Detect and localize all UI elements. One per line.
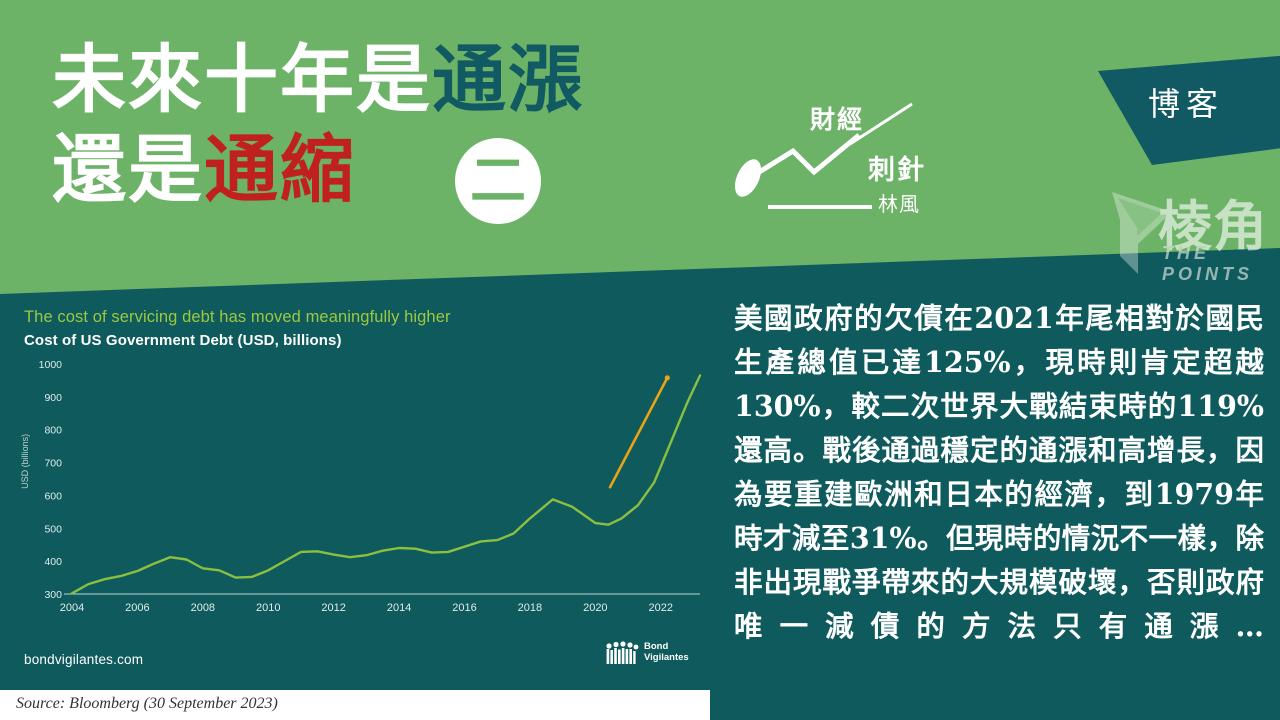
blog-badge: 博客 <box>1090 55 1280 165</box>
blog-badge-label: 博客 <box>1148 79 1224 125</box>
chart-svg: 3004005006007008009001000USD (billions)2… <box>0 356 712 652</box>
chart-subtitle: Cost of US Government Debt (USD, billion… <box>24 332 342 349</box>
x-tick-label: 2016 <box>452 602 476 614</box>
article-paragraph: 美國政府的欠債在2021年尾相對於國民生產總值已達125%，現時則肯定超越130… <box>734 296 1264 648</box>
headline-line1-white: 未來十年是 <box>52 37 432 123</box>
column-logo: 財經 刺針 林風 <box>726 96 966 226</box>
brand-watermark: 棱角 THE POINTS <box>1110 186 1280 278</box>
bond-vigilantes-mark-icon <box>604 640 640 666</box>
column-category-label: 財經 <box>810 100 864 136</box>
x-tick-label: 2010 <box>256 602 280 614</box>
x-tick-label: 2006 <box>125 602 149 614</box>
y-tick-label: 300 <box>44 589 62 601</box>
episode-number-badge: 二 <box>455 138 541 224</box>
column-author-label: 林風 <box>878 188 920 217</box>
chart-title: The cost of servicing debt has moved mea… <box>24 308 451 327</box>
x-tick-label: 2020 <box>583 602 607 614</box>
chart-footer-url: bondvigilantes.com <box>24 652 143 667</box>
y-tick-label: 600 <box>44 490 62 502</box>
x-tick-label: 2004 <box>60 602 84 614</box>
infographic-canvas: 未來十年是通漲 還是通縮 二 財經 刺針 林風 博客 棱角 THE POINTS… <box>0 0 1280 720</box>
watermark-en-label: THE POINTS <box>1162 243 1280 285</box>
x-tick-label: 2014 <box>387 602 411 614</box>
headline-line2-white: 還是 <box>52 127 204 213</box>
y-tick-label: 500 <box>44 523 62 535</box>
article-body-panel: 美國政府的欠債在2021年尾相對於國民生產總值已達125%，現時則肯定超越130… <box>712 290 1280 720</box>
y-tick-label: 700 <box>44 458 62 470</box>
x-tick-label: 2008 <box>191 602 215 614</box>
headline-line1-accent: 通漲 <box>432 37 584 123</box>
x-tick-label: 2022 <box>649 602 673 614</box>
bond-vigilantes-name: Bond Vigilantes <box>644 641 704 663</box>
bond-vigilantes-logo: Bond Vigilantes <box>604 640 704 674</box>
column-name-label: 刺針 <box>868 148 926 187</box>
headline-line-1: 未來十年是通漲 <box>52 38 712 122</box>
headline-block: 未來十年是通漲 還是通縮 <box>52 38 712 212</box>
headline-line-2: 還是通縮 <box>52 128 712 212</box>
x-tick-label: 2018 <box>518 602 542 614</box>
source-strip: Source: Bloomberg (30 September 2023) <box>0 690 710 720</box>
chart-plot-area: 3004005006007008009001000USD (billions)2… <box>0 356 712 652</box>
x-tick-label: 2012 <box>321 602 345 614</box>
headline-line2-accent: 通縮 <box>204 127 356 213</box>
source-text: Source: Bloomberg (30 September 2023) <box>16 695 278 713</box>
y-tick-label: 1000 <box>39 359 63 371</box>
chart-series-line <box>72 376 700 594</box>
y-tick-label: 400 <box>44 556 62 568</box>
trend-end-marker <box>665 375 670 380</box>
y-tick-label: 800 <box>44 425 62 437</box>
y-tick-label: 900 <box>44 392 62 404</box>
chart-panel: The cost of servicing debt has moved mea… <box>0 294 712 690</box>
y-axis-title: USD (billions) <box>20 434 30 489</box>
